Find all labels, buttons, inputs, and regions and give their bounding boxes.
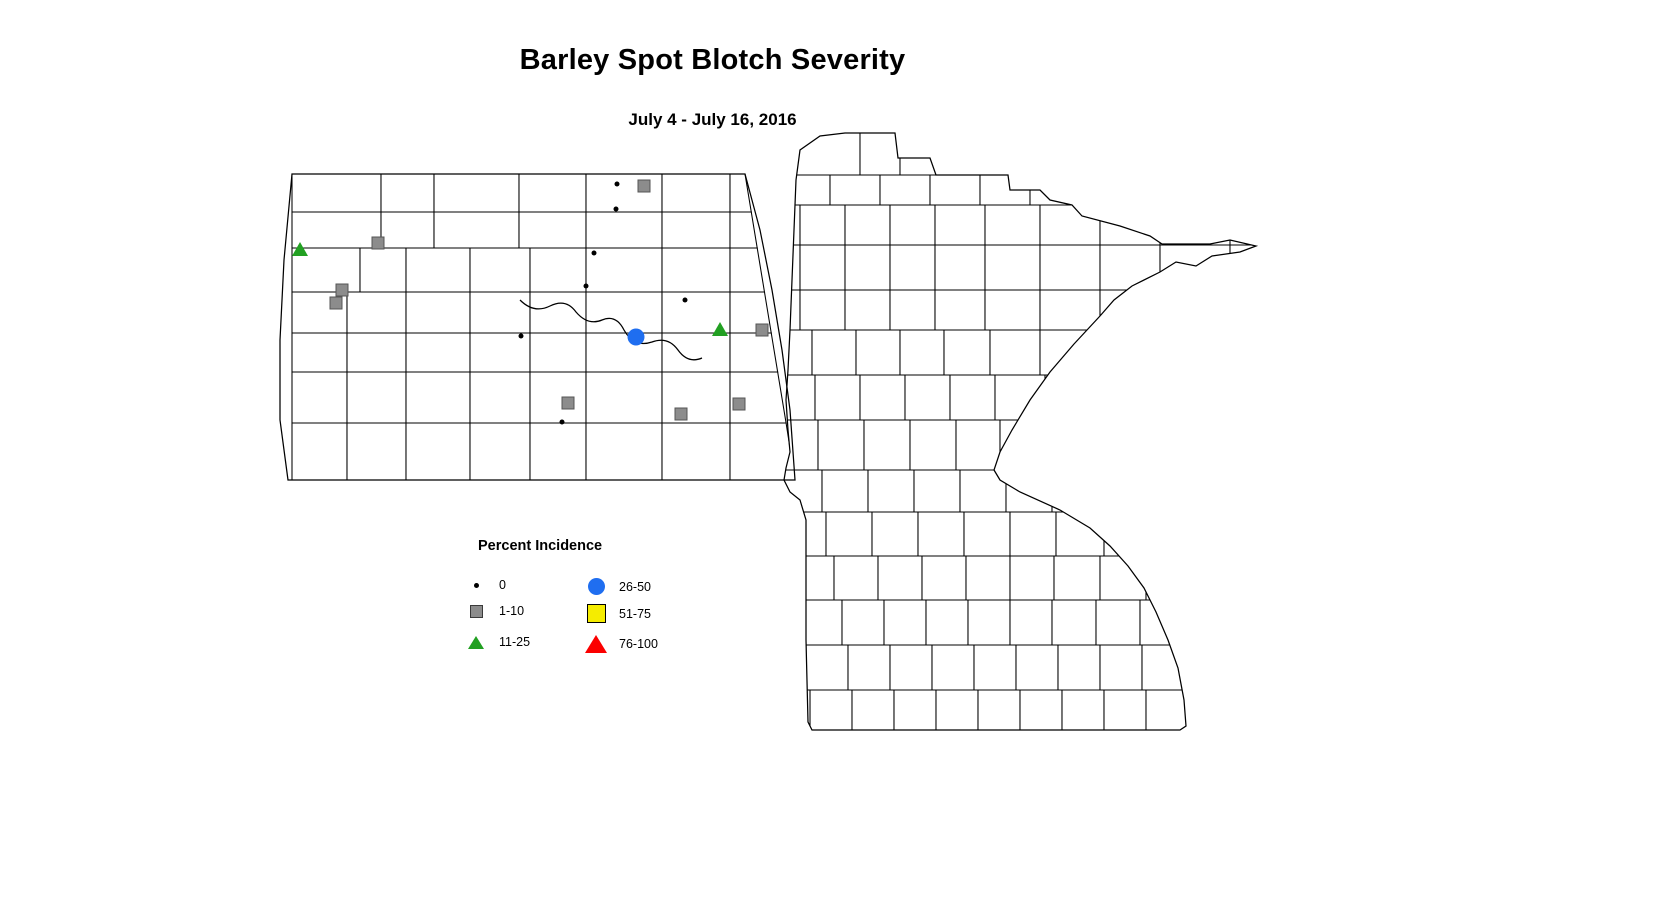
county-shape (1146, 690, 1188, 732)
county-shape (852, 690, 894, 732)
county-shape (830, 175, 880, 205)
county-shape (347, 292, 406, 333)
data-point-marker (615, 182, 620, 187)
legend-item-0: 0 (465, 578, 506, 592)
county-shape (1030, 175, 1300, 205)
county-shape (956, 420, 1000, 470)
red-triangle-icon (585, 635, 607, 653)
county-shape (292, 333, 347, 372)
county-shape (940, 133, 1000, 175)
legend-item-label: 26-50 (619, 580, 651, 594)
county-shape (780, 133, 860, 175)
county-shape (1146, 556, 1300, 600)
data-point-marker (733, 398, 746, 411)
county-shape (586, 423, 662, 480)
county-shape (1010, 512, 1056, 556)
county-shape (1000, 420, 1050, 470)
county-shape (950, 375, 995, 420)
county-shape (806, 645, 848, 690)
county-shape (922, 556, 966, 600)
county-shape (347, 333, 406, 372)
legend-item-label: 51-75 (619, 607, 651, 621)
legend: Percent Incidence 01-1011-2526-5051-7576… (455, 530, 715, 660)
county-shape (894, 690, 936, 732)
county-shape (842, 600, 884, 645)
county-shape (848, 645, 890, 690)
county-shape (586, 333, 662, 372)
legend-item-label: 0 (499, 578, 506, 592)
county-shape (880, 175, 930, 205)
county-shape (1100, 290, 1160, 330)
county-shape (434, 174, 519, 212)
county-shape (1160, 245, 1230, 290)
county-shape (530, 292, 586, 333)
county-shape (935, 245, 985, 290)
county-shape (406, 333, 470, 372)
county-shape (1230, 205, 1300, 245)
county-shape (700, 133, 780, 175)
county-shape (826, 512, 872, 556)
legend-item-11-25: 11-25 (465, 635, 530, 649)
county-shape (347, 423, 406, 480)
county-shape (935, 290, 985, 330)
county-shape (730, 248, 764, 292)
county-shape (845, 290, 890, 330)
county-map-svg (0, 0, 1673, 900)
county-shape (700, 690, 810, 732)
legend-item-label: 76-100 (619, 637, 658, 651)
data-point-marker (562, 397, 575, 410)
data-point-marker (592, 251, 597, 256)
county-shape (990, 330, 1040, 375)
yellow-square-icon (585, 604, 607, 623)
county-shape (822, 470, 868, 512)
small-dot-icon (465, 583, 487, 588)
county-shape (890, 205, 935, 245)
county-shape (1100, 556, 1146, 600)
county-shape (406, 248, 470, 292)
minnesota-county-grid (700, 133, 1300, 732)
county-shape (1010, 600, 1052, 645)
data-point-marker (675, 408, 688, 421)
county-shape (890, 290, 935, 330)
county-shape (470, 292, 530, 333)
legend-title: Percent Incidence (478, 538, 602, 554)
county-shape (1006, 470, 1052, 512)
data-point-marker (336, 284, 349, 297)
county-shape (878, 556, 922, 600)
county-shape (1104, 512, 1150, 556)
county-shape (662, 212, 730, 248)
data-point-marker (638, 180, 651, 193)
county-shape (780, 512, 826, 556)
county-shape (406, 372, 470, 423)
county-shape (1040, 205, 1100, 245)
county-shape (1240, 330, 1300, 375)
county-shape (530, 248, 586, 292)
data-point-marker (560, 420, 565, 425)
county-shape (910, 420, 956, 470)
data-point-marker (614, 207, 619, 212)
county-shape (812, 330, 856, 375)
county-shape (700, 600, 800, 645)
county-shape (1095, 330, 1160, 375)
map-canvas (0, 0, 1673, 900)
county-shape (586, 372, 662, 423)
county-shape (1000, 133, 1300, 175)
legend-item-76-100: 76-100 (585, 635, 658, 653)
county-shape (381, 174, 434, 212)
county-shape (586, 248, 662, 292)
county-shape (1160, 290, 1230, 330)
county-shape (800, 245, 845, 290)
county-shape (790, 556, 834, 600)
data-point-marker (584, 284, 589, 289)
county-shape (760, 245, 800, 290)
county-shape (1100, 245, 1160, 290)
county-shape (586, 174, 662, 212)
data-point-marker (330, 297, 343, 310)
county-shape (944, 330, 990, 375)
county-shape (662, 423, 730, 480)
county-shape (292, 423, 347, 480)
county-shape (292, 174, 381, 212)
county-shape (1160, 330, 1240, 375)
county-shape (800, 290, 845, 330)
county-shape (1184, 645, 1300, 690)
county-shape (985, 205, 1040, 245)
county-shape (930, 175, 980, 205)
county-shape (818, 420, 864, 470)
county-shape (856, 330, 900, 375)
county-shape (1100, 205, 1160, 245)
county-shape (964, 512, 1010, 556)
data-point-marker (683, 298, 688, 303)
county-shape (730, 212, 757, 248)
county-shape (292, 372, 347, 423)
county-shape (985, 245, 1040, 290)
county-shape (974, 645, 1016, 690)
county-shape (530, 372, 586, 423)
county-shape (966, 556, 1010, 600)
map-figure: Barley Spot Blotch Severity July 4 - Jul… (0, 0, 1673, 900)
county-shape (918, 512, 964, 556)
county-shape (845, 205, 890, 245)
county-shape (662, 333, 730, 372)
data-point-marker (628, 329, 645, 346)
county-shape (810, 690, 852, 732)
county-shape (406, 423, 470, 480)
county-shape (470, 372, 530, 423)
county-shape (1010, 556, 1054, 600)
data-point-marker (372, 237, 385, 250)
county-shape (1045, 375, 1100, 420)
county-shape (1050, 420, 1300, 470)
county-shape (1230, 290, 1300, 330)
data-point-marker (756, 324, 769, 337)
county-shape (868, 470, 914, 512)
county-shape (995, 375, 1045, 420)
county-shape (935, 205, 985, 245)
county-shape (914, 470, 960, 512)
county-shape (586, 292, 662, 333)
county-shape (662, 372, 730, 423)
gray-square-icon (465, 605, 487, 618)
county-shape (890, 645, 932, 690)
county-shape (1150, 512, 1300, 556)
county-shape (1062, 690, 1104, 732)
legend-item-label: 1-10 (499, 604, 524, 618)
county-shape (470, 423, 530, 480)
minnesota-counties (700, 133, 1300, 732)
county-shape (890, 245, 935, 290)
legend-item-51-75: 51-75 (585, 604, 651, 623)
county-shape (780, 175, 830, 205)
county-shape (1058, 645, 1100, 690)
county-shape (1180, 600, 1300, 645)
county-shape (700, 645, 806, 690)
county-shape (900, 330, 944, 375)
county-shape (860, 133, 900, 175)
county-shape (381, 212, 434, 248)
data-point-marker (519, 334, 524, 339)
county-shape (1040, 245, 1100, 290)
county-shape (1016, 645, 1058, 690)
county-shape (662, 174, 730, 212)
county-shape (586, 212, 662, 248)
county-shape (860, 375, 905, 420)
data-point-marker (292, 242, 308, 256)
county-shape (815, 375, 860, 420)
county-shape (905, 375, 950, 420)
county-shape (1100, 645, 1142, 690)
data-point-marker (712, 322, 728, 336)
county-shape (1096, 600, 1140, 645)
county-shape (800, 205, 845, 245)
county-shape (1054, 556, 1100, 600)
county-shape (884, 600, 926, 645)
county-shape (936, 690, 978, 732)
county-shape (470, 248, 530, 292)
county-shape (470, 333, 530, 372)
county-shape (864, 420, 910, 470)
county-shape (406, 292, 470, 333)
county-shape (1052, 470, 1100, 512)
county-shape (1100, 375, 1300, 420)
county-shape (347, 372, 406, 423)
county-shape (1100, 470, 1300, 512)
county-shape (1020, 690, 1062, 732)
county-shape (845, 245, 890, 290)
county-shape (1104, 690, 1146, 732)
county-shape (926, 600, 968, 645)
legend-item-26-50: 26-50 (585, 578, 651, 595)
county-shape (730, 333, 778, 372)
legend-item-label: 11-25 (499, 635, 530, 649)
county-shape (1040, 290, 1100, 330)
county-shape (1160, 205, 1230, 245)
county-shape (968, 600, 1010, 645)
county-shape (1052, 600, 1096, 645)
county-shape (985, 290, 1040, 330)
county-shape (872, 512, 918, 556)
county-shape (530, 333, 586, 372)
county-shape (519, 212, 586, 248)
county-shape (530, 423, 586, 480)
county-shape (662, 248, 730, 292)
county-shape (434, 212, 519, 248)
county-shape (960, 470, 1006, 512)
blue-circle-icon (585, 578, 607, 595)
county-shape (730, 174, 751, 212)
county-shape (932, 645, 974, 690)
county-shape (519, 174, 586, 212)
county-shape (360, 248, 406, 292)
county-shape (1188, 690, 1300, 732)
county-shape (834, 556, 878, 600)
green-triangle-icon (465, 636, 487, 649)
legend-item-1-10: 1-10 (465, 604, 524, 618)
county-shape (978, 690, 1020, 732)
